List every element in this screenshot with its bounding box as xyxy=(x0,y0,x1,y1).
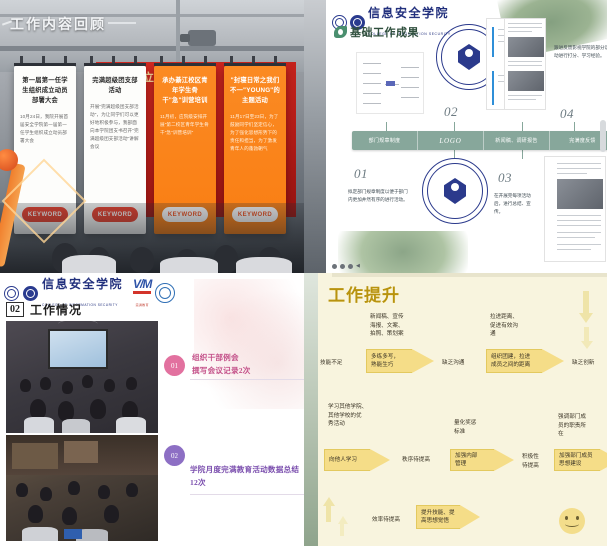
banner-heading: 承办綦江校区青年学生骨干"急"训营培训 xyxy=(160,76,210,106)
flow-arrow-label: 向他人学习 xyxy=(329,456,357,465)
banner-body: 开展"完满超级团支部活动"，为让同学们可以更好地积极参与，我部面向本学院团支书召… xyxy=(90,103,140,151)
section-title: 基础工作成果 xyxy=(334,24,419,40)
projection-screen xyxy=(48,329,108,369)
step-number: 01 xyxy=(354,166,368,182)
panel-work-content-review: 22- 览 立 工作内容回顾 第一届第一任学生组织成立动员部署大会 10月24日… xyxy=(0,0,304,273)
section-title-text: 基础工作成果 xyxy=(350,24,419,40)
board-top-edge xyxy=(332,273,607,277)
divider xyxy=(190,379,304,380)
news-article-thumbnail xyxy=(504,18,546,110)
item-number-badge: 01 xyxy=(164,355,185,376)
flowchart-title: 工作提升 xyxy=(328,281,400,306)
flow-note-above: 学习其他学院、 其他学校的优 秀活动 xyxy=(328,403,367,429)
seal-dot xyxy=(451,183,459,191)
step-number: 04 xyxy=(560,106,574,122)
banner-heading: 第一届第一任学生组织成立动员部署大会 xyxy=(20,76,70,106)
seal-dot xyxy=(465,49,473,57)
flow-arrow-label: 加强部门成员 思想建设 xyxy=(559,452,593,469)
audience-body xyxy=(160,257,218,273)
band-item-2[interactable]: 新闻稿、调研报告 xyxy=(484,131,550,150)
step-caption: 拟定部门规章制度以便于部门内更加井然有序的进行活动。 xyxy=(348,188,410,204)
panel-foundation-results: 信息安全学院 COLLEGE OF INFORMATION SECURITY 基… xyxy=(304,0,607,273)
section-header: 02 工作情况 xyxy=(6,301,82,318)
photo-edge xyxy=(304,273,318,546)
panel-work-improvement: 工作提升 技能不足 新闻稿、宣传 海报、文案、 拍照、策划案 多练多写， 熟能生… xyxy=(304,273,607,546)
flow-arrow[interactable]: 组织团建，拉进 成员之间的距离 xyxy=(486,349,564,373)
audience-head xyxy=(130,247,154,273)
brand-vm-logo: V/M xyxy=(133,277,151,291)
college-seal-icon xyxy=(23,286,38,301)
ceiling-beam xyxy=(0,46,304,51)
item-number-badge: 02 xyxy=(164,445,185,466)
projector-icon xyxy=(188,30,216,46)
leaf-bullet-icon xyxy=(334,26,347,38)
page-title: 工作内容回顾 xyxy=(10,14,106,34)
stage-band: 部门规章制度 LOGO 新闻稿、调研报告 完满度反馈 xyxy=(352,131,607,150)
band-item-3[interactable]: 完满度反馈 xyxy=(550,131,607,150)
audience-body xyxy=(236,257,292,273)
step-number: 02 xyxy=(444,104,458,120)
banner-hook xyxy=(84,56,146,65)
band-item-1[interactable]: LOGO xyxy=(418,131,484,150)
section-title-text: 工作情况 xyxy=(30,301,82,318)
decorative-object xyxy=(0,145,74,265)
banner-hook xyxy=(154,56,216,65)
banner-hook xyxy=(224,56,286,65)
item-line-1: 组织干部例会 xyxy=(192,351,304,364)
item-line-2: 撰写会议记录2次 xyxy=(192,364,304,377)
flow-arrow[interactable]: 加强内部 管理 xyxy=(450,449,514,471)
flower-decor-icon xyxy=(194,279,304,409)
flow-node-start: 效率待提高 xyxy=(372,516,400,525)
item-text: 组织干部例会 撰写会议记录2次 xyxy=(192,351,304,377)
meeting-photo xyxy=(6,321,158,433)
banner-body: 11月17日至23日，为了鼓励同学们坚定信心，为了强化思想形势下的责任和担当，为… xyxy=(230,113,280,153)
college-name-cn: 信息安全学院 xyxy=(368,6,449,20)
slide-pager[interactable]: ◀ xyxy=(332,263,360,269)
flow-note-above: 强调部门成 员的职责所 在 xyxy=(558,413,586,439)
flow-note-above: 新闻稿、宣传 海报、文案、 拍照、策划案 xyxy=(370,313,404,339)
banner-heading: "封寝日常之我们不一"YOUNG"的主题活动 xyxy=(230,76,280,106)
flow-note-above: 量化奖惩 标准 xyxy=(454,419,476,436)
college-seal-large-icon xyxy=(422,158,488,224)
flow-arrow[interactable]: 提升技能、提 高思想觉悟 xyxy=(416,505,480,529)
panel-work-situation: 信息安全学院 COLLEGE OF INFORMATION SECURITY V… xyxy=(0,273,304,546)
projector-hanger xyxy=(58,321,98,329)
flow-arrow[interactable]: 多练多写， 熟能生巧 xyxy=(366,349,434,373)
down-arrow-decor-icon xyxy=(583,291,593,323)
classroom-photo xyxy=(6,435,158,541)
banner-body: 11月初，应院级安排开展"第二校区青年学生骨干"急"训营培训" xyxy=(160,113,210,137)
slide-collage: 22- 览 立 工作内容回顾 第一届第一任学生组织成立动员部署大会 10月24日… xyxy=(0,0,607,546)
banner-heading: 完满超级团支部活动 xyxy=(90,76,140,96)
flow-note-above: 拉进距离、 促进有效沟 通 xyxy=(490,313,518,339)
step-caption: 在开展完每项活动后，进行总结、宣传。 xyxy=(494,192,538,216)
list-item[interactable]: 01 组织干部例会 撰写会议记录2次 xyxy=(164,351,304,377)
flow-arrow-label: 加强内部 管理 xyxy=(455,452,477,469)
flow-node-middle: 缺乏沟通 xyxy=(442,359,464,368)
item-line-1: 学院月度完满教育活动数据总结12次 xyxy=(190,463,304,489)
smiley-face-icon xyxy=(559,508,585,534)
flow-node-middle: 秩序待提高 xyxy=(402,456,430,465)
org-chart-thumbnail xyxy=(356,52,424,114)
report-thumbnail xyxy=(544,156,606,262)
list-item[interactable]: 02 学院月度完满教育活动数据总结12次 xyxy=(164,441,304,489)
section-number: 02 xyxy=(6,302,24,317)
up-arrow-decor-icon xyxy=(326,497,335,522)
item-text: 学院月度完满教育活动数据总结12次 xyxy=(190,463,304,489)
band-item-0[interactable]: 部门规章制度 xyxy=(352,131,418,150)
photo-edge xyxy=(304,0,326,273)
banner-hook xyxy=(14,56,76,65)
step-caption: 跟进反馈影视学院的部分话动进行打分、学习经验。 xyxy=(554,44,607,60)
banner-body: 10月24日，我院开展首届安全学院第一届第一任学生组织成立动员部署大会 xyxy=(20,113,70,145)
flow-arrow-label: 多练多写， 熟能生巧 xyxy=(371,353,399,370)
divider xyxy=(190,494,304,495)
college-seal-icon xyxy=(4,286,19,301)
flow-node-start: 技能不足 xyxy=(320,359,342,368)
flow-arrow-label: 提升技能、提 高思想觉悟 xyxy=(421,509,455,526)
flow-arrow-label: 组织团建，拉进 成员之间的距离 xyxy=(491,353,530,370)
flow-arrow[interactable]: 向他人学习 xyxy=(324,449,390,471)
flow-node-middle: 积极性 待提高 xyxy=(522,453,539,470)
flow-arrow[interactable]: 加强部门成员 思想建设 xyxy=(554,449,607,471)
flowchart-board: 工作提升 技能不足 新闻稿、宣传 海报、文案、 拍照、策划案 多练多写， 熟能生… xyxy=(318,273,607,546)
slide-surface: 信息安全学院 COLLEGE OF INFORMATION SECURITY 基… xyxy=(326,0,607,273)
up-arrow-decor-icon xyxy=(340,516,348,536)
brand-vm-sub: 完满教育 xyxy=(136,303,149,307)
university-emblem-icon xyxy=(155,283,175,303)
step-number: 03 xyxy=(498,170,512,186)
scrollbar-thumb[interactable] xyxy=(600,120,606,152)
down-arrow-decor-icon xyxy=(584,327,593,349)
flow-node-end: 缺乏创新 xyxy=(572,359,594,368)
college-name-cn: 信息安全学院 xyxy=(42,277,123,291)
